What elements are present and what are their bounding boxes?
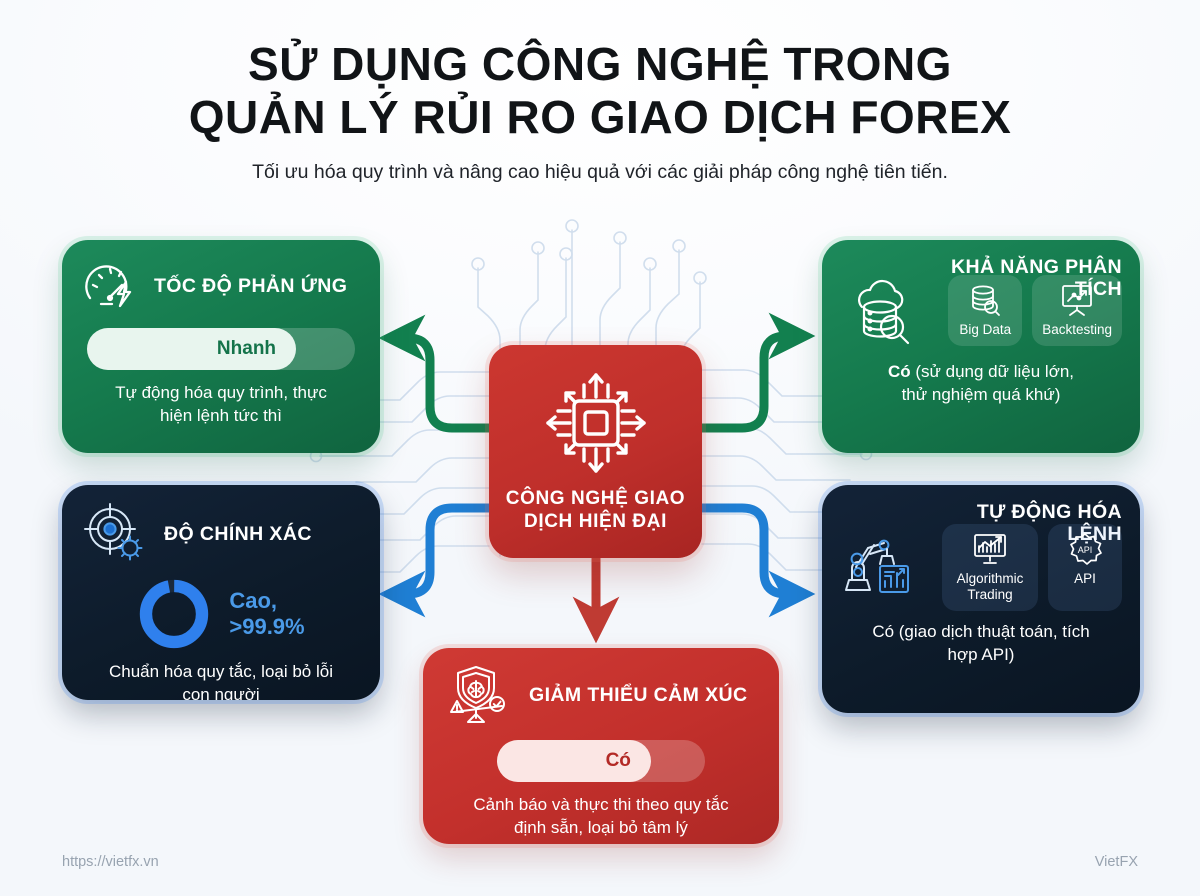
api-gear-icon: API — [1066, 532, 1104, 566]
card-description-line-1: Chuẩn hóa quy tắc, loại bỏ lỗi — [109, 662, 333, 681]
chip-label: Algorithmic Trading — [952, 571, 1028, 603]
card-description: Có (giao dịch thuật toán, tích hợp API) — [840, 621, 1122, 667]
hub-title: CÔNG NGHỆ GIAO DỊCH HIỆN ĐẠI — [506, 487, 685, 533]
card-description-line-1: Có (giao dịch thuật toán, tích — [872, 622, 1089, 641]
cpu-chip-icon — [540, 367, 652, 479]
chip-big-data[interactable]: Big Data — [948, 275, 1022, 346]
automation-chips: Algorithmic Trading API API — [942, 524, 1122, 611]
card-description-line-2: hợp API) — [948, 645, 1015, 664]
cloud-database-search-icon — [840, 275, 918, 353]
card-tu-dong-hoa-lenh[interactable]: TỰ ĐỘNG HÓA LỆNH — [822, 485, 1140, 713]
card-description-line-1: Cảnh báo và thực thi theo quy tắc — [473, 795, 728, 814]
card-description: Tự động hóa quy trình, thực hiện lệnh tứ… — [84, 382, 358, 428]
card-toc-do-phan-ung[interactable]: TỐC ĐỘ PHẢN ỨNG Nhanh Tự động hóa quy tr… — [62, 240, 380, 453]
accuracy-label-line-2: >99.9% — [229, 614, 304, 640]
card-description-line-1: (sử dụng dữ liệu lớn, — [911, 362, 1074, 381]
svg-text:API: API — [1078, 545, 1093, 555]
chip-label: Backtesting — [1042, 322, 1112, 338]
hub-title-line-1: CÔNG NGHỆ GIAO — [506, 487, 685, 510]
emotion-meter: Có — [497, 740, 705, 782]
connector-hub-to-kha-nang-phan-tich — [702, 336, 792, 428]
hub-cong-nghe-giao-dich-hien-dai[interactable]: CÔNG NGHỆ GIAO DỊCH HIỆN ĐẠI — [489, 345, 702, 558]
card-do-chinh-xac[interactable]: ĐỘ CHÍNH XÁC Cao, >99.9% Chuẩn hóa quy t… — [62, 485, 380, 700]
chip-label: API — [1074, 571, 1096, 587]
card-title: GIẢM THIỂU CẢM XÚC — [529, 684, 747, 706]
card-giam-thieu-cam-xuc[interactable]: GIẢM THIỂU CẢM XÚC Có Cảnh báo và thực t… — [423, 648, 779, 844]
chart-easel-icon — [1059, 283, 1095, 317]
card-description-line-2: định sẵn, loại bỏ tâm lý — [514, 818, 688, 837]
connector-hub-to-tu-dong-hoa-lenh — [702, 508, 792, 594]
page-header: SỬ DỤNG CÔNG NGHỆ TRONG QUẢN LÝ RỦI RO G… — [0, 38, 1200, 184]
emotion-meter-fill: Có — [497, 740, 651, 782]
target-gear-icon — [80, 501, 154, 567]
card-description: Cảnh báo và thực thi theo quy tắc định s… — [443, 794, 759, 840]
hub-title-line-2: DỊCH HIỆN ĐẠI — [506, 510, 685, 533]
card-description-line-2: hiện lệnh tức thì — [160, 406, 282, 425]
monitor-trend-icon — [971, 532, 1009, 566]
chip-label: Big Data — [959, 322, 1011, 338]
chip-api[interactable]: API API — [1048, 524, 1122, 611]
card-description: Có (sử dụng dữ liệu lớn, thử nghiệm quá … — [840, 361, 1122, 407]
chip-algorithmic-trading[interactable]: Algorithmic Trading — [942, 524, 1038, 611]
accuracy-donut-row: Cao, >99.9% — [80, 577, 362, 651]
chip-backtesting[interactable]: Backtesting — [1032, 275, 1122, 346]
card-description-line-2: con người — [182, 685, 259, 700]
connector-hub-to-toc-do-phan-ung — [402, 338, 489, 428]
robot-arm-chart-icon — [840, 524, 920, 602]
page-title-line-1: SỬ DỤNG CÔNG NGHỆ TRONG — [0, 38, 1200, 91]
database-search-icon — [967, 283, 1003, 317]
accuracy-donut-label: Cao, >99.9% — [229, 588, 304, 641]
card-description-line-2: thử nghiệm quá khứ) — [902, 385, 1061, 404]
card-title: TỐC ĐỘ PHẢN ỨNG — [154, 275, 347, 297]
shield-brain-scale-icon — [443, 664, 517, 726]
analysis-chips: Big Data Backtesting — [948, 275, 1122, 346]
card-title: ĐỘ CHÍNH XÁC — [164, 523, 312, 545]
page-subtitle: Tối ưu hóa quy trình và nâng cao hiệu qu… — [0, 161, 1200, 184]
accuracy-label-line-1: Cao, — [229, 588, 304, 614]
connector-hub-to-do-chinh-xac — [402, 508, 489, 594]
footer-brand: VietFX — [1095, 854, 1138, 870]
card-kha-nang-phan-tich[interactable]: KHẢ NĂNG PHÂN TÍCH — [822, 240, 1140, 453]
card-description-line-1: Tự động hóa quy trình, thực — [115, 383, 327, 402]
speed-meter-label: Nhanh — [217, 338, 276, 360]
infographic-canvas: SỬ DỤNG CÔNG NGHỆ TRONG QUẢN LÝ RỦI RO G… — [0, 0, 1200, 896]
speedometer-bolt-icon — [84, 260, 142, 312]
accuracy-donut-chart — [137, 577, 211, 651]
footer-url[interactable]: https://vietfx.vn — [62, 854, 159, 870]
speed-meter: Nhanh — [87, 328, 355, 370]
card-description-strong: Có — [888, 362, 911, 381]
page-title-line-2: QUẢN LÝ RỦI RO GIAO DỊCH FOREX — [0, 91, 1200, 144]
page-footer: https://vietfx.vn VietFX — [0, 854, 1200, 870]
card-description: Chuẩn hóa quy tắc, loại bỏ lỗi con người — [80, 661, 362, 700]
speed-meter-fill: Nhanh — [87, 328, 296, 370]
emotion-meter-label: Có — [606, 750, 631, 772]
